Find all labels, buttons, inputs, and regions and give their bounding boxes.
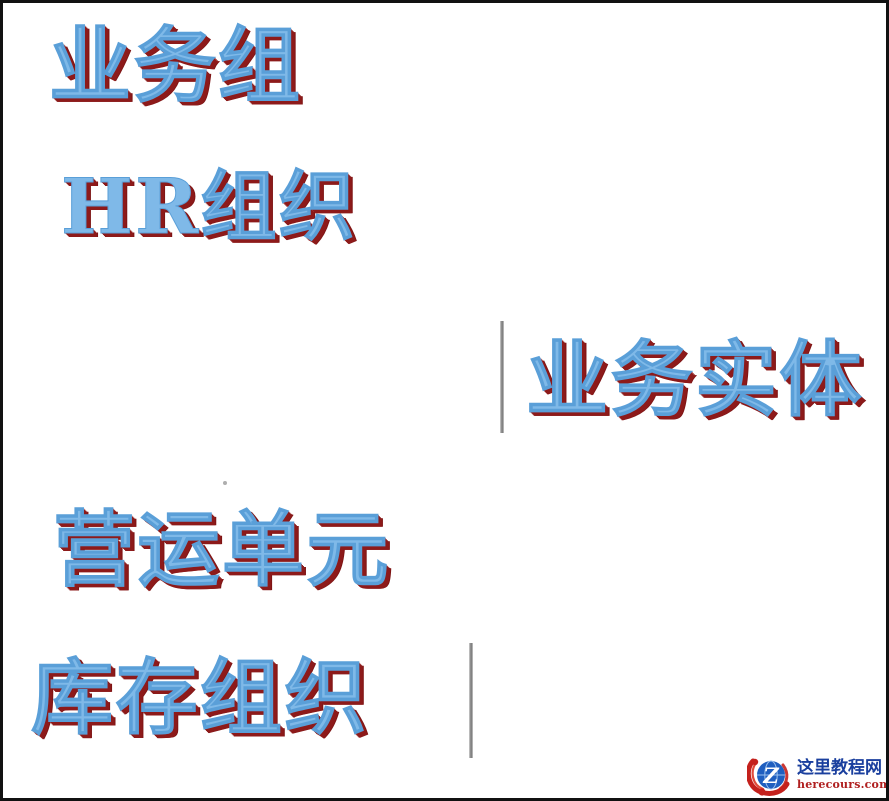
watermark-site-name: 这里教程网 (797, 760, 889, 778)
site-logo-icon: Z (747, 753, 793, 797)
label-operating-unit: 营运单元 (53, 509, 391, 591)
watermark-text: 这里教程网 herecours.com (797, 760, 889, 790)
label-hr-organization: HR组织 (61, 169, 357, 245)
label-business-entity: 业务实体 (526, 339, 864, 421)
label-business-group: 业务组 (49, 25, 302, 107)
connector-lower-vertical-rule (469, 643, 473, 758)
label-inventory-organization: 库存组织 (31, 657, 369, 739)
watermark-site-url: herecours.com (797, 779, 889, 791)
watermark: Z 这里教程网 herecours.com (747, 751, 887, 799)
diagram-canvas: 业务组 HR组织 业务实体 营运单元 库存组织 Z (0, 0, 889, 801)
connector-upper-vertical-rule (500, 321, 504, 433)
speck-artifact (223, 481, 227, 485)
svg-text:Z: Z (762, 763, 779, 788)
